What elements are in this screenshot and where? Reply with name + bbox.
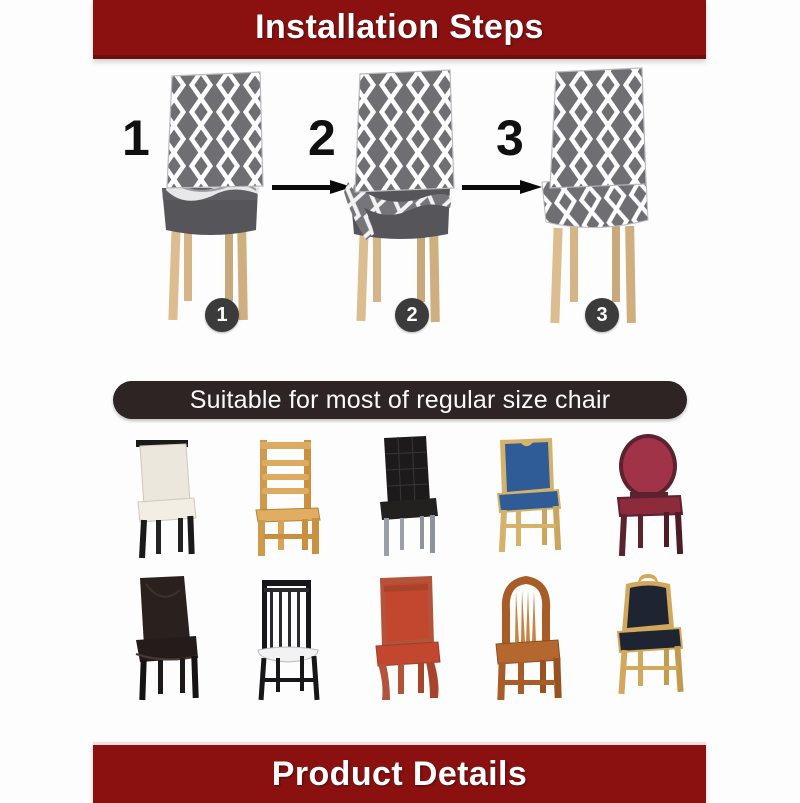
- step-badge-1: 1: [205, 298, 239, 332]
- chair-medium-wood-fanback: [470, 566, 590, 704]
- chair-red-leather-wood: [350, 566, 470, 704]
- chair-grid-row-1: [110, 426, 710, 564]
- installation-steps-title: Installation Steps: [255, 8, 544, 47]
- installation-step-1: 1: [120, 58, 310, 368]
- installation-steps-banner: Installation Steps: [93, 0, 706, 59]
- step-badge-3: 3: [585, 298, 619, 332]
- chair-black-quilted-leather: [350, 426, 470, 564]
- installation-step-3: 3: [500, 58, 690, 368]
- installation-steps-section: 1: [0, 58, 800, 368]
- chair-cream-upholstered: [110, 426, 230, 564]
- suitable-chairs-title: Suitable for most of regular size chair: [190, 386, 610, 415]
- installation-step-2: 2: [310, 58, 500, 368]
- chair-blue-banquet: [470, 426, 590, 564]
- infographic-page: Installation Steps 1: [0, 0, 800, 800]
- chair-light-wood-ladderback: [230, 426, 350, 564]
- suitable-chairs-banner: Suitable for most of regular size chair: [113, 381, 687, 419]
- product-details-banner: Product Details: [93, 742, 706, 803]
- chair-burgundy-roundback: [590, 426, 710, 564]
- product-details-title: Product Details: [272, 755, 527, 794]
- suitable-chairs-grid: [110, 426, 710, 706]
- step-badge-2: 2: [395, 298, 429, 332]
- chair-black-metal-spindle: [230, 566, 350, 704]
- chair-dark-brown-leather: [110, 566, 230, 704]
- chair-navy-gold-banquet: [590, 566, 710, 704]
- chair-grid-row-2: [110, 566, 710, 704]
